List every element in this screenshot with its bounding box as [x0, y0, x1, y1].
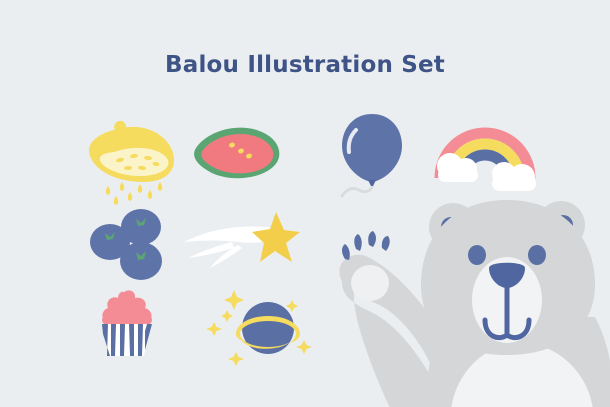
illustration-planet — [204, 286, 316, 368]
blueberry-front — [120, 242, 162, 280]
blueberry-top — [121, 209, 161, 245]
illustration-watermelon — [188, 122, 288, 184]
illustration-set-preview: Balou Illustration Set — [0, 0, 610, 407]
cupcake-wrapper — [102, 324, 152, 356]
illustration-lemon — [78, 112, 182, 198]
illustration-balloon — [326, 110, 422, 198]
balloon-body — [342, 114, 402, 182]
illustration-blueberries — [88, 208, 174, 284]
lemon-juice-drops — [106, 182, 163, 205]
illustration-rainbow — [432, 112, 538, 190]
illustration-bear — [325, 195, 610, 407]
page-title: Balou Illustration Set — [0, 52, 610, 78]
bear-paw-pad — [351, 265, 389, 301]
balloon-knot — [368, 180, 376, 186]
planet-sphere — [242, 302, 294, 354]
balloon-string — [342, 182, 372, 196]
illustration-shooting-star — [182, 210, 300, 270]
bear-claws — [342, 231, 390, 260]
illustration-cupcake — [90, 288, 170, 360]
shooting-star-shape — [252, 212, 300, 262]
